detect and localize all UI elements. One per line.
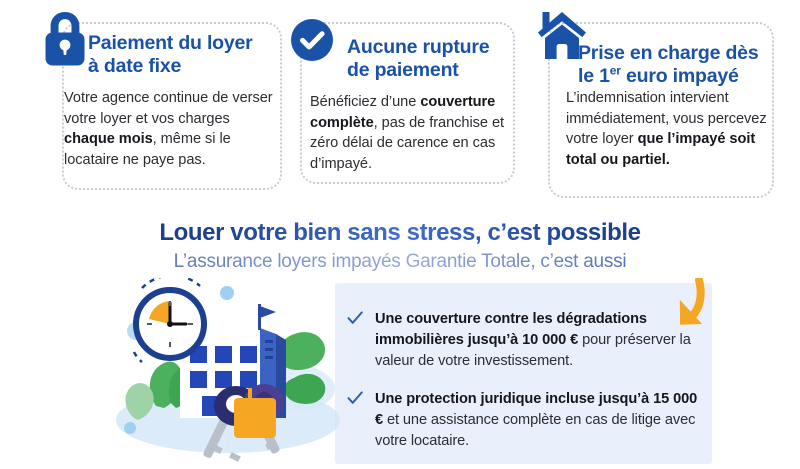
page-subtitle: L’assurance loyers impayés Garantie Tota… bbox=[0, 251, 800, 273]
card-title-line-1: Prise en charge dès bbox=[578, 42, 758, 64]
card-body-no-interruption: Bénéficiez d’une couverture complète, pa… bbox=[310, 92, 515, 175]
card-title-line-1: Aucune rupture bbox=[347, 36, 489, 58]
check-mark-icon bbox=[347, 310, 363, 326]
list-item: Une protection juridique incluse jusqu’à… bbox=[347, 389, 702, 452]
check-mark-icon bbox=[347, 390, 363, 406]
house-icon bbox=[536, 8, 588, 62]
page-title: Louer votre bien sans stress, c’est poss… bbox=[0, 219, 800, 247]
building-clock-keys-illustration bbox=[108, 278, 348, 464]
card-title-line-2: de paiement bbox=[347, 59, 459, 81]
card-title-line-2: à date fixe bbox=[88, 55, 181, 77]
headline-block: Louer votre bien sans stress, c’est poss… bbox=[0, 219, 800, 273]
card-title-first-euro: Prise en charge dès le 1er euro impayé bbox=[578, 42, 788, 88]
list-item-text: Une protection juridique incluse jusqu’à… bbox=[375, 391, 697, 449]
card-title-line-1: Paiement du loyer bbox=[88, 32, 253, 54]
curved-down-arrow-icon bbox=[637, 278, 707, 336]
card-body-first-euro: L’indemnisation intervient immédiatement… bbox=[566, 88, 784, 171]
card-title-line-2-post: euro impayé bbox=[621, 65, 739, 87]
ordinal-suffix: er bbox=[610, 63, 621, 77]
feature-cards-row: Paiement du loyer à date fixe Aucune rup… bbox=[0, 0, 800, 205]
card-title-line-2-pre: le 1 bbox=[578, 65, 610, 87]
card-title-no-interruption: Aucune rupture de paiement bbox=[347, 36, 527, 82]
padlock-icon bbox=[42, 10, 88, 68]
card-title-payment-date: Paiement du loyer à date fixe bbox=[88, 32, 288, 78]
check-circle-icon bbox=[290, 18, 334, 62]
card-body-payment-date: Votre agence continue de verser votre lo… bbox=[64, 88, 278, 171]
